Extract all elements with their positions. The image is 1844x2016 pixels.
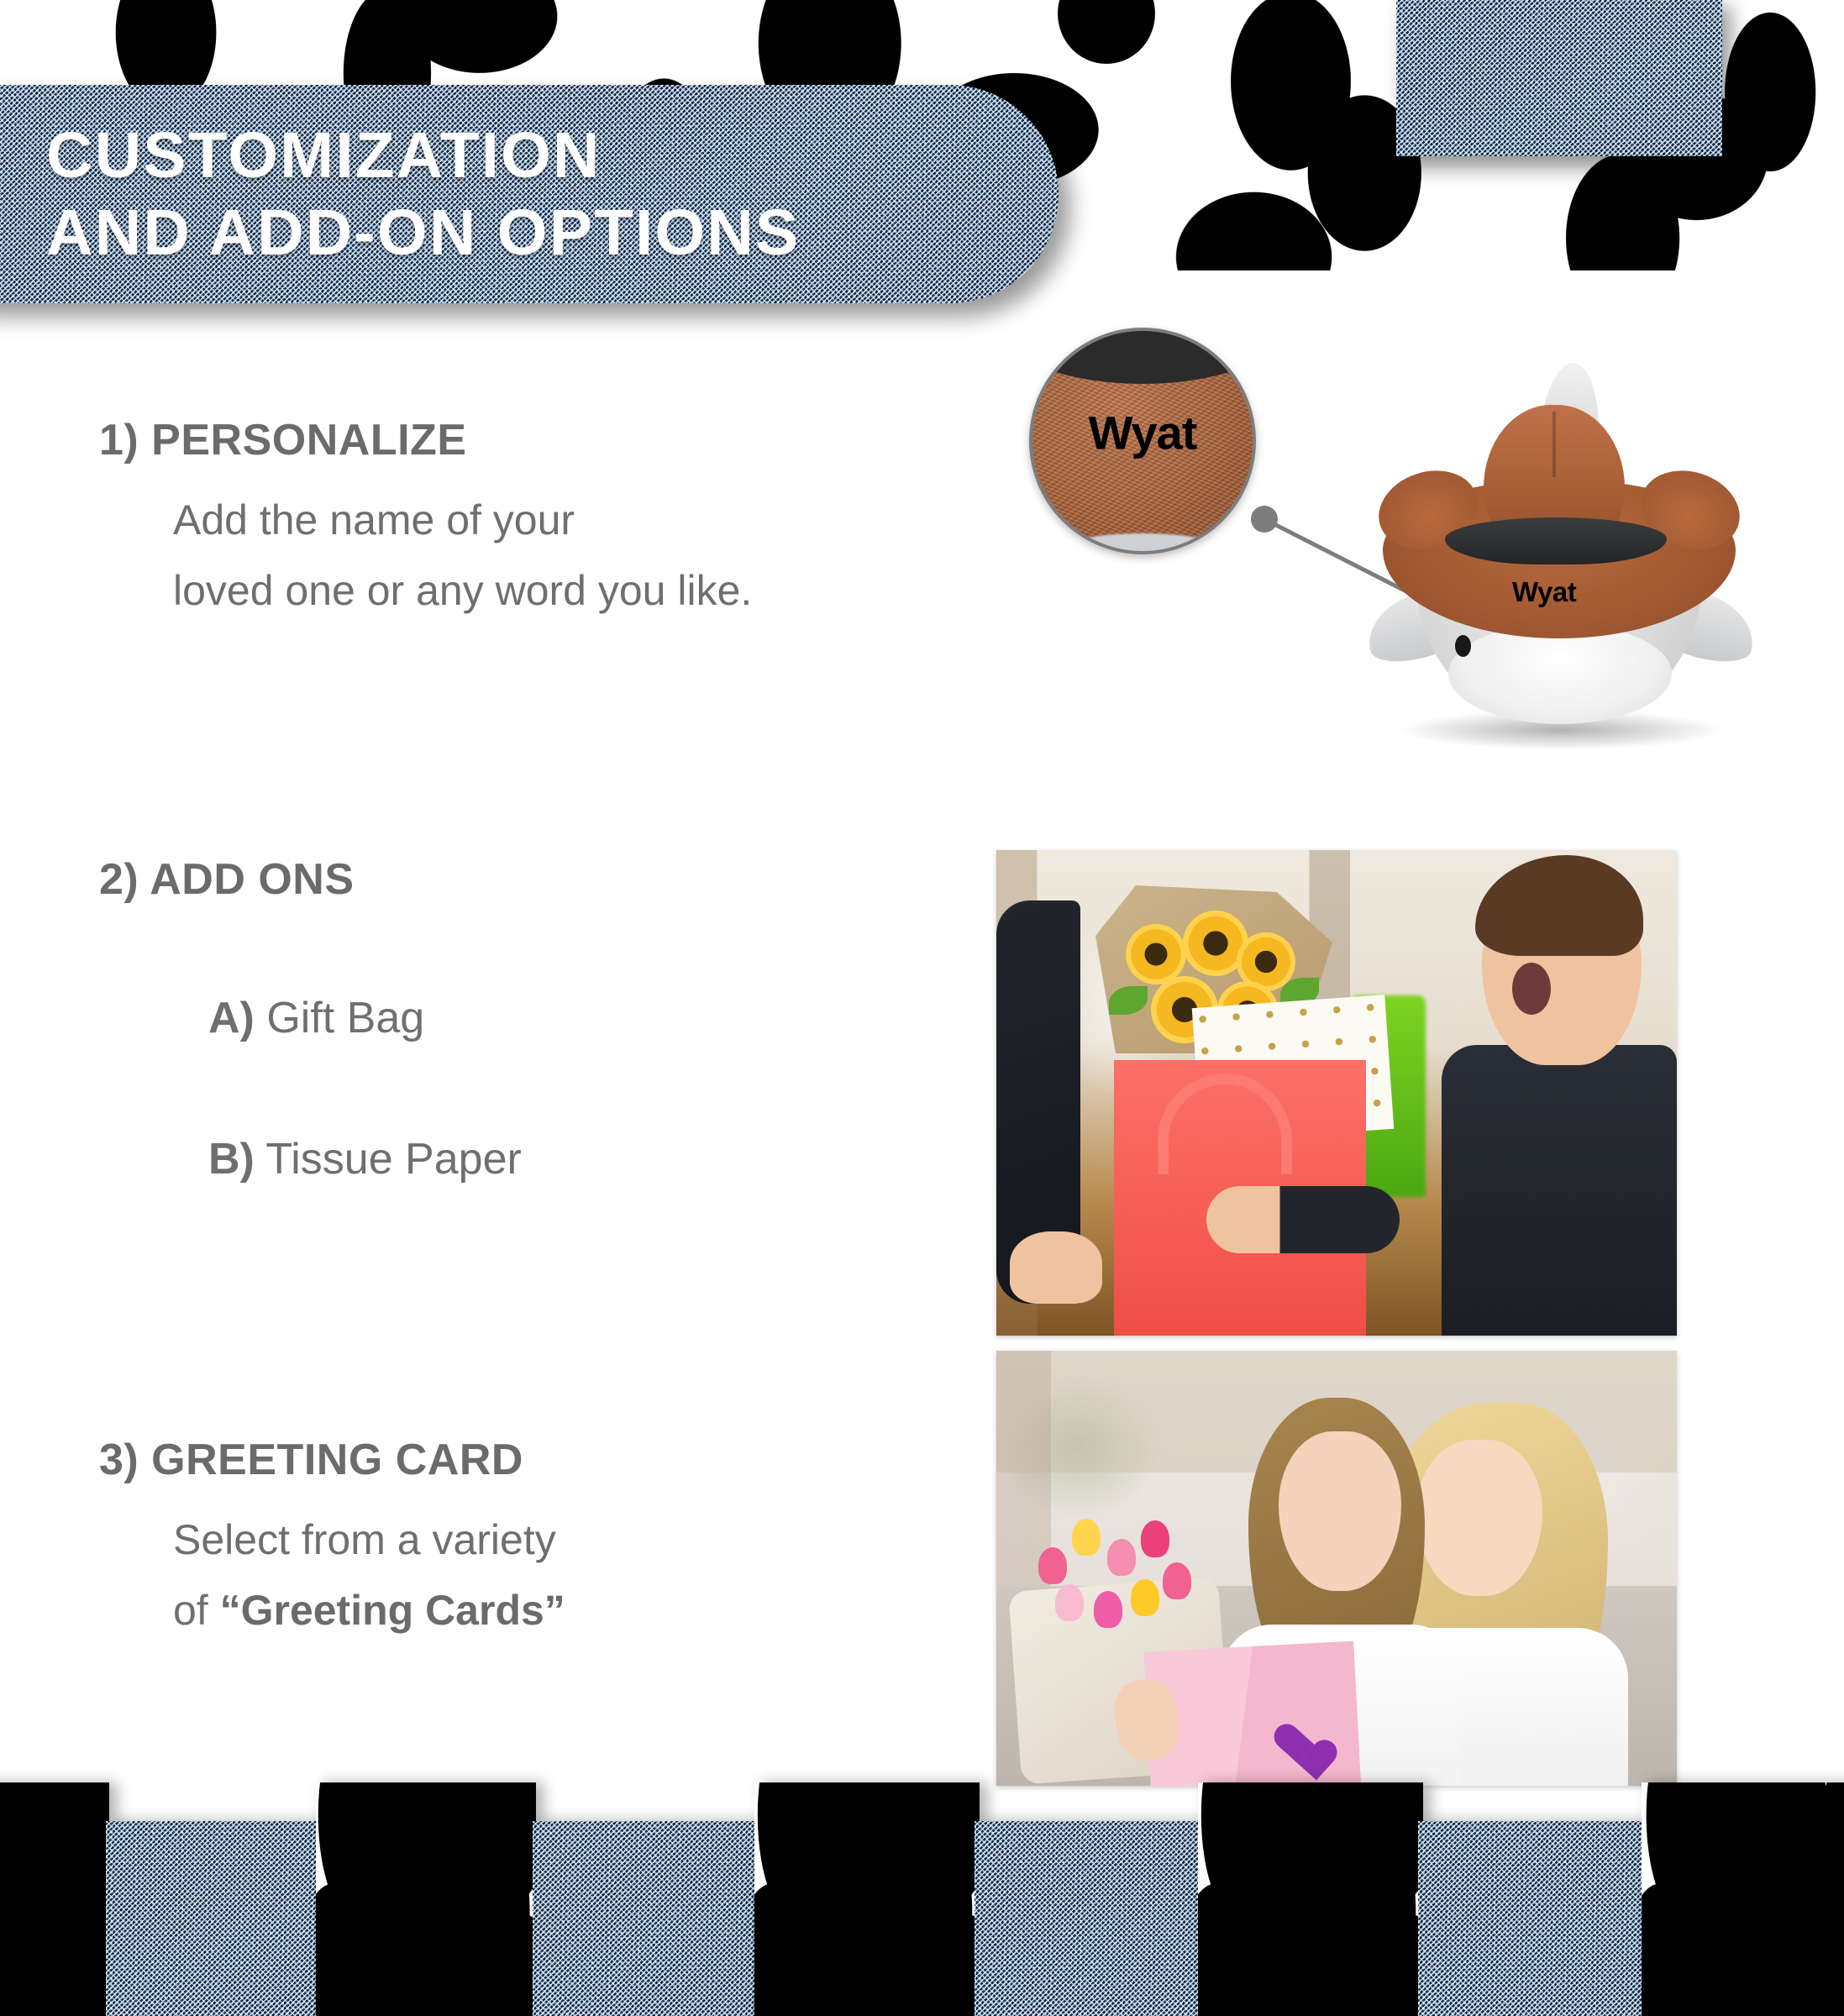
addon-option-tissue-paper: B) Tissue Paper bbox=[208, 1134, 522, 1184]
step-2-title: 2) ADD ONS bbox=[99, 855, 522, 904]
tulip bbox=[1094, 1591, 1122, 1628]
step-3-body: Select from a variety of “Greeting Cards… bbox=[173, 1504, 565, 1646]
boy-arm-reaching bbox=[1206, 1186, 1400, 1253]
product-hero-personalized-plush: Wyat Wyat bbox=[991, 319, 1840, 848]
addon-a-prefix: A) bbox=[208, 994, 255, 1042]
cow-print-panel-5 bbox=[1642, 1782, 1844, 2016]
shark-belly bbox=[1448, 623, 1672, 724]
magnifier-bubble: Wyat bbox=[1029, 328, 1256, 554]
photo-gift-bag-addon bbox=[996, 850, 1677, 1336]
boy-torso bbox=[1442, 1045, 1677, 1336]
step-greeting-card: 3) GREETING CARD Select from a variety o… bbox=[99, 1436, 565, 1646]
step-3-body-line-2: of “Greeting Cards” bbox=[173, 1575, 565, 1646]
page-title-line-2: AND ADD-ON OPTIONS bbox=[46, 194, 1059, 271]
heart-icon bbox=[1274, 1724, 1323, 1768]
addon-option-gift-bag: A) Gift Bag bbox=[208, 993, 522, 1043]
denim-panel-4 bbox=[1418, 1821, 1647, 2016]
page-title-line-1: CUSTOMIZATION bbox=[46, 117, 1059, 194]
tulip bbox=[1055, 1584, 1084, 1621]
step-1-body-line-2: loved one or any word you like. bbox=[173, 555, 752, 626]
sunflower bbox=[1126, 924, 1186, 984]
cowboy-hat-band bbox=[1445, 517, 1667, 564]
step-1-title: 1) PERSONALIZE bbox=[99, 416, 752, 465]
step-personalize: 1) PERSONALIZE Add the name of your love… bbox=[99, 416, 752, 626]
personalized-name-zoom: Wyat bbox=[1032, 405, 1253, 459]
boy-open-mouth bbox=[1512, 963, 1551, 1015]
cow-print-panel-3 bbox=[754, 1782, 980, 2016]
step-3-line2-quoted: “Greeting Cards” bbox=[220, 1587, 565, 1634]
addon-a-label: Gift Bag bbox=[255, 994, 424, 1042]
page-title-banner: CUSTOMIZATION AND ADD-ON OPTIONS bbox=[0, 85, 1059, 303]
daughter-face bbox=[1279, 1431, 1401, 1591]
tulip bbox=[1072, 1519, 1101, 1556]
denim-panel-1 bbox=[106, 1821, 318, 2016]
tulip bbox=[1163, 1562, 1191, 1599]
tulip bbox=[1038, 1547, 1067, 1584]
personalized-name-on-hat: Wyat bbox=[1512, 576, 1576, 608]
cow-print-panel-2 bbox=[316, 1782, 536, 2016]
shark-eye bbox=[1455, 635, 1471, 657]
mother-face bbox=[1416, 1440, 1542, 1596]
cow-print-panel-4 bbox=[1198, 1782, 1423, 2016]
step-1-body: Add the name of your loved one or any wo… bbox=[173, 485, 752, 626]
tulip bbox=[1141, 1520, 1169, 1557]
step-3-line2-prefix: of bbox=[173, 1587, 220, 1634]
denim-panel-3 bbox=[975, 1821, 1203, 2016]
step-1-body-line-1: Add the name of your bbox=[173, 485, 752, 555]
tulip-bouquet bbox=[1030, 1510, 1198, 1636]
giver-arm bbox=[996, 900, 1080, 1304]
addon-b-label: Tissue Paper bbox=[255, 1135, 522, 1184]
hat-crease bbox=[1552, 412, 1556, 477]
denim-panel-2 bbox=[533, 1821, 759, 2016]
step-3-body-line-1: Select from a variety bbox=[173, 1504, 565, 1575]
plush-shark-with-cowboy-hat: Wyat bbox=[1368, 370, 1754, 748]
photo-greeting-card-addon bbox=[996, 1351, 1677, 1786]
step-3-title: 3) GREETING CARD bbox=[99, 1436, 565, 1484]
cow-print-panel-1 bbox=[0, 1782, 109, 2016]
denim-swatch-top-right bbox=[1396, 0, 1722, 156]
step-add-ons: 2) ADD ONS A) Gift Bag B) Tissue Paper bbox=[99, 855, 522, 1184]
gift-bag-handle bbox=[1158, 1074, 1292, 1174]
tulip bbox=[1107, 1539, 1136, 1576]
tulip bbox=[1131, 1579, 1159, 1616]
bottom-decorative-strip bbox=[0, 1772, 1844, 2016]
addon-b-prefix: B) bbox=[208, 1135, 255, 1184]
giver-hand bbox=[1010, 1231, 1102, 1304]
